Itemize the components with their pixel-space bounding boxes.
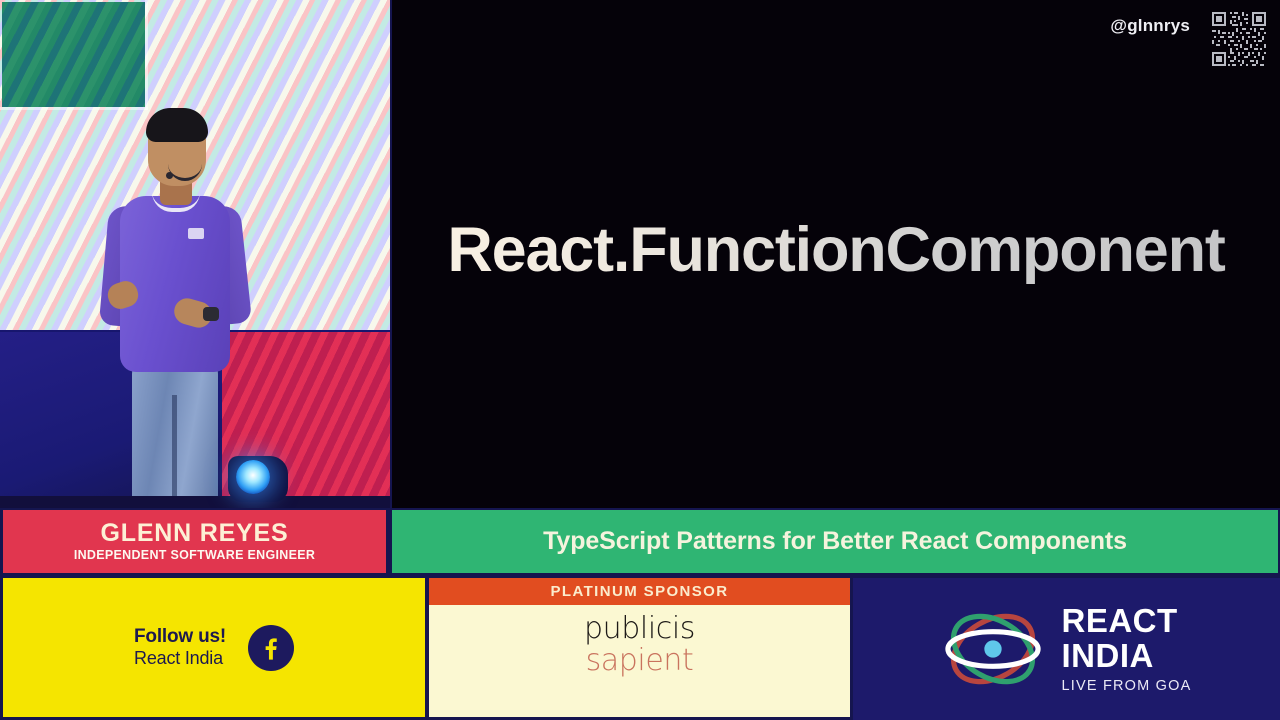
brand-tagline: LIVE FROM GOA [1061, 679, 1191, 694]
speaker-torso [120, 196, 230, 372]
slide-title: React.FunctionComponent [392, 0, 1280, 508]
backdrop-seam-vertical [145, 0, 148, 110]
speaker-wristwatch [203, 307, 219, 321]
react-atom-icon [941, 603, 1045, 695]
presentation-slide: React.FunctionComponent @glnnrys [392, 0, 1280, 508]
speaker-role: INDEPENDENT SOFTWARE ENGINEER [74, 549, 315, 562]
sponsor-panel: PLATINUM SPONSOR publicis sapient [429, 578, 850, 717]
top-row: React.FunctionComponent @glnnrys [0, 0, 1280, 508]
sponsor-name-line1: publicis [429, 613, 850, 645]
sponsor-tier-label: PLATINUM SPONSOR [429, 578, 850, 605]
follow-us-text: Follow us! React India [134, 626, 226, 670]
talk-title: TypeScript Patterns for Better React Com… [543, 527, 1127, 556]
sponsor-name-line2: sapient [429, 645, 850, 677]
stage-light-icon [236, 460, 270, 494]
broadcast-stage: React.FunctionComponent @glnnrys [0, 0, 1280, 720]
speaker-leg-seam [172, 395, 177, 508]
react-india-wordmark: REACT INDIA LIVE FROM GOA [1061, 604, 1191, 694]
speaker-video-feed [0, 0, 390, 508]
brand-line-2: INDIA [1061, 639, 1191, 672]
backdrop-seam-horizontal [0, 107, 148, 110]
headset-microphone-earpiece [166, 172, 173, 179]
follow-us-panel: Follow us! React India [3, 578, 425, 717]
follow-us-account: React India [134, 648, 226, 669]
sponsor-logo: publicis sapient [429, 605, 850, 717]
stage-floor-edge [0, 496, 390, 508]
brand-line-1: REACT [1061, 604, 1191, 637]
talk-title-bar: TypeScript Patterns for Better React Com… [392, 510, 1278, 573]
speaker-name: GLENN REYES [101, 521, 289, 546]
facebook-icon[interactable] [248, 625, 294, 671]
react-india-brand-panel: REACT INDIA LIVE FROM GOA [853, 578, 1280, 720]
speaker-hair [146, 108, 208, 142]
speaker-handle: @glnnrys [1110, 16, 1190, 36]
speaker-name-bar: GLENN REYES INDEPENDENT SOFTWARE ENGINEE… [3, 510, 386, 573]
speaker-shirt-logo [188, 228, 204, 239]
follow-us-headline: Follow us! [134, 626, 226, 648]
stage-backdrop-green-panel [2, 2, 145, 107]
qr-code-icon [1210, 10, 1268, 68]
